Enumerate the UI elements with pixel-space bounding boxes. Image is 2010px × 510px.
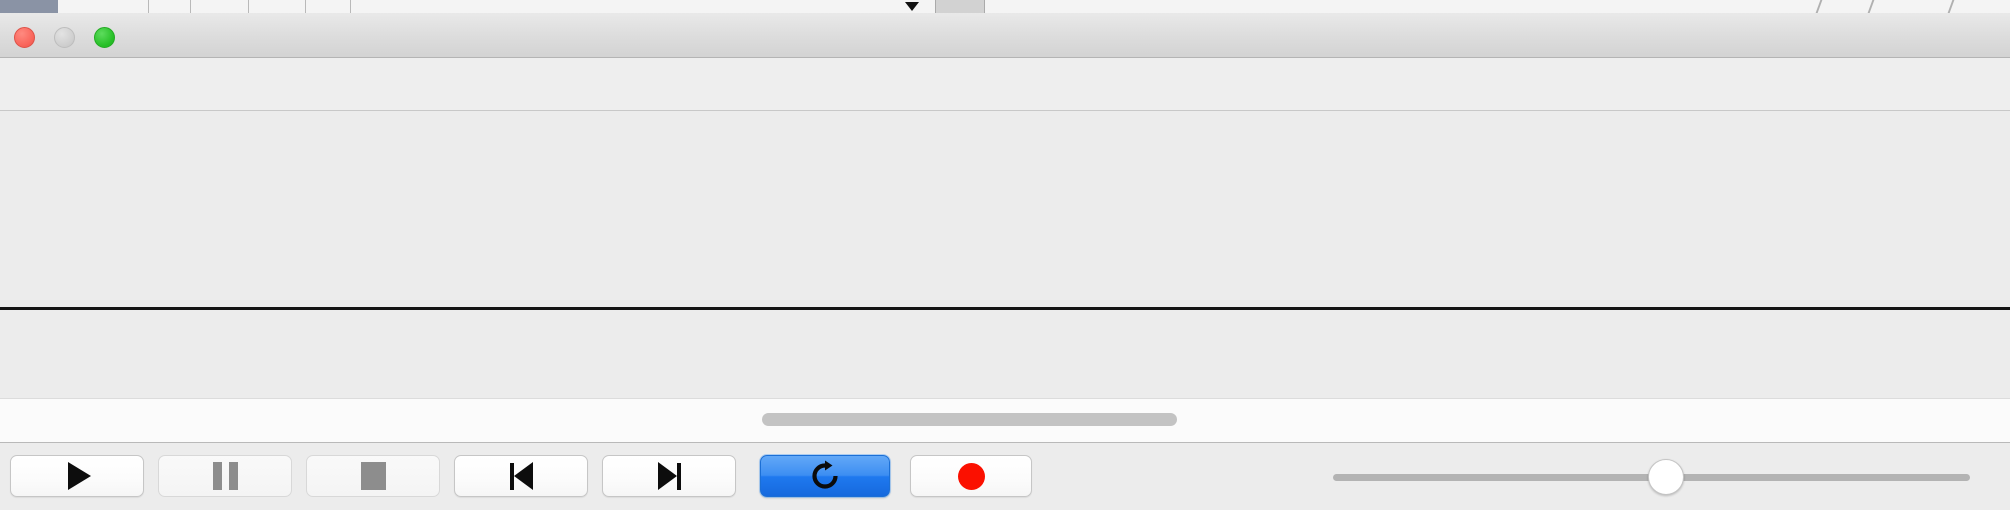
next-frame-button[interactable] bbox=[602, 455, 736, 497]
loop-icon bbox=[808, 459, 842, 493]
timeline-scrollbar-track[interactable] bbox=[0, 398, 2010, 442]
transport-bar bbox=[0, 442, 2010, 510]
skip-back-icon bbox=[510, 462, 533, 490]
loop-button[interactable] bbox=[760, 455, 890, 497]
play-icon bbox=[68, 462, 91, 490]
pause-button[interactable] bbox=[158, 455, 292, 497]
prev-frame-button[interactable] bbox=[454, 455, 588, 497]
timeline-scrollbar-thumb[interactable] bbox=[762, 413, 1177, 426]
play-button[interactable] bbox=[10, 455, 144, 497]
stop-button[interactable] bbox=[306, 455, 440, 497]
timeline-panel[interactable] bbox=[0, 111, 2010, 398]
record-button[interactable] bbox=[910, 455, 1032, 497]
cyanimator-window bbox=[0, 0, 2010, 510]
animation-speed-slider-thumb[interactable] bbox=[1648, 459, 1684, 495]
stop-icon bbox=[361, 462, 386, 490]
window-title bbox=[0, 13, 2010, 58]
record-icon bbox=[958, 463, 985, 490]
skip-forward-icon bbox=[658, 462, 681, 490]
timeline-axis-line bbox=[0, 307, 2010, 310]
title-bar bbox=[0, 13, 2010, 58]
background-window-strip bbox=[0, 0, 2010, 13]
frame-toolbar bbox=[0, 58, 2010, 111]
background-toolbar-box bbox=[935, 0, 985, 13]
background-caret-icon bbox=[905, 2, 919, 11]
pause-icon bbox=[213, 462, 238, 490]
